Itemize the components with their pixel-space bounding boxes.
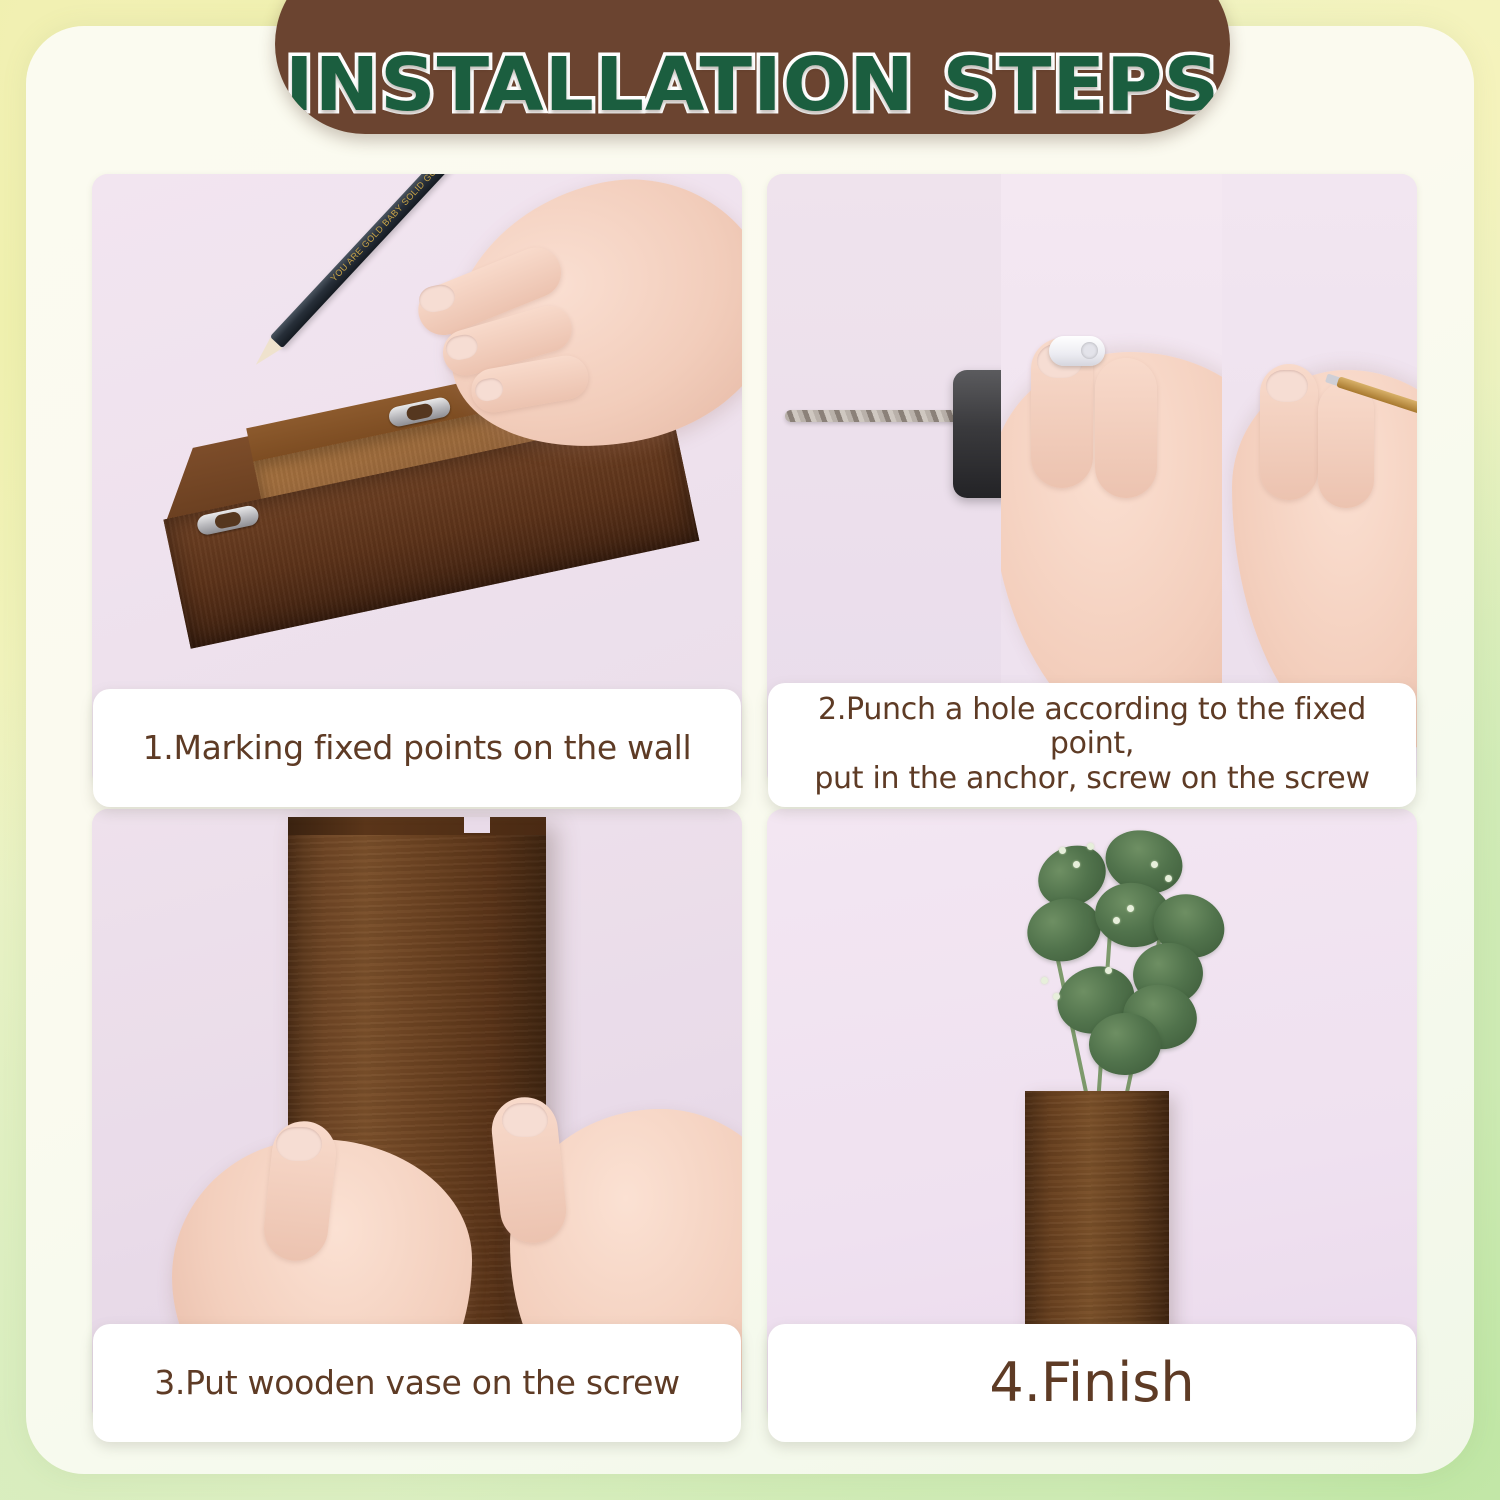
fingernail: [276, 1127, 322, 1161]
leaf: [1021, 891, 1108, 969]
vase-top-notch: [464, 817, 490, 833]
caption-line: 3.Put wooden vase on the screw: [154, 1363, 680, 1402]
caption-line: put in the anchor, screw on the screw: [814, 761, 1369, 796]
flower-bud: [1073, 861, 1080, 868]
caption-text: 2.Punch a hole according to the fixed po…: [814, 693, 1369, 797]
flower-bud: [1059, 847, 1066, 854]
step-card-3: 3.Put wooden vase on the screw: [92, 809, 742, 1424]
step-3-caption: 3.Put wooden vase on the screw: [93, 1324, 741, 1442]
step-card-2: 2.Punch a hole according to the fixed po…: [767, 174, 1417, 789]
title-banner: INSTALLATION STEPS: [275, 0, 1230, 134]
fingernail: [502, 1103, 548, 1137]
eucalyptus-foliage: [955, 817, 1255, 1117]
caption-line: 2.Punch a hole according to the fixed: [818, 692, 1366, 727]
step-2-caption: 2.Punch a hole according to the fixed po…: [768, 683, 1416, 807]
middle-finger: [1095, 358, 1157, 498]
caption-text: 1.Marking fixed points on the wall: [143, 729, 692, 767]
caption-line: point,: [1050, 726, 1134, 761]
flower-bud: [1105, 967, 1112, 974]
flower-bud: [1113, 917, 1120, 924]
page-title: INSTALLATION STEPS: [285, 48, 1220, 122]
caption-line: 4.Finish: [989, 1351, 1194, 1414]
step-4-caption: 4.Finish: [768, 1324, 1416, 1442]
vase-top-lip: [288, 817, 546, 835]
drill-body: [953, 370, 1001, 498]
leaf: [1088, 1012, 1162, 1076]
flower-bud: [1165, 875, 1172, 882]
fingernail: [1266, 370, 1308, 402]
step-card-1: YOU ARE GOLD BABY SOLID GOLD 1.Marking f…: [92, 174, 742, 789]
caption-line: 1.Marking fixed points on the wall: [143, 728, 692, 767]
wall-anchor-icon: [1049, 336, 1105, 366]
flower-bud: [1151, 861, 1158, 868]
flower-bud: [1127, 905, 1134, 912]
caption-text: 3.Put wooden vase on the screw: [154, 1364, 680, 1402]
steps-grid: YOU ARE GOLD BABY SOLID GOLD 1.Marking f…: [92, 174, 1417, 1424]
caption-text: 4.Finish: [989, 1352, 1194, 1415]
masonry-drill-bit-icon: [785, 410, 963, 422]
flower-bud: [1053, 993, 1060, 1000]
infographic-page: INSTALLATION STEPS: [0, 0, 1500, 1500]
flower-bud: [1087, 843, 1094, 850]
flower-bud: [1041, 977, 1048, 984]
step-1-caption: 1.Marking fixed points on the wall: [93, 689, 741, 807]
step-card-4: 4.Finish: [767, 809, 1417, 1424]
